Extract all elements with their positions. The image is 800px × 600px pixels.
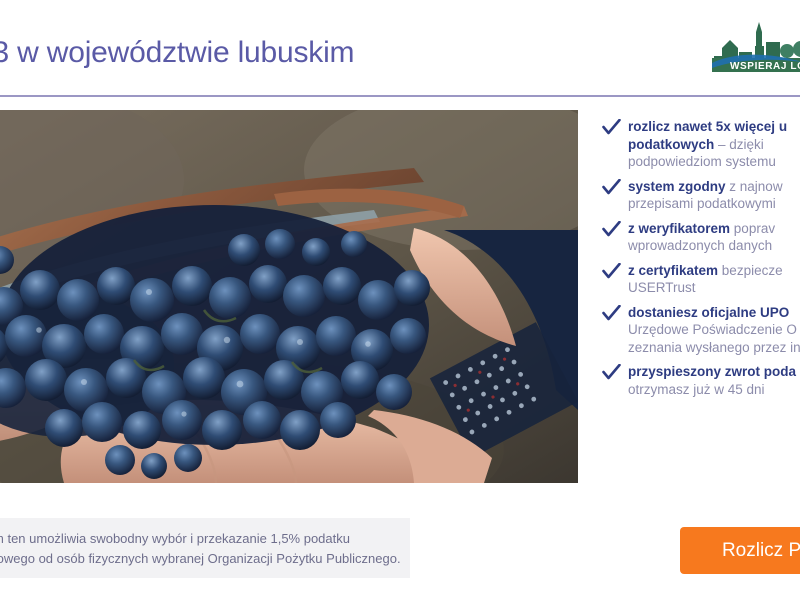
benefit-rest: Urzędowe Poświadczenie O [628,322,797,337]
check-icon [602,119,621,136]
benefit-bold: system zgodny [628,179,726,194]
benefit-rest: bezpiecze [718,263,783,278]
benefit-rest: USERTrust [628,280,696,295]
check-icon [602,364,621,381]
benefit-line: rozlicz nawet 5x więcej u [628,118,800,136]
check-icon [602,221,621,238]
check-icon [602,263,621,280]
benefit-item: rozlicz nawet 5x więcej u podatkowych – … [602,118,800,171]
benefit-rest: zeznania wysłanego przez in [628,340,800,355]
benefit-rest: przepisami podatkowymi [628,196,776,211]
info-box: Program ten umożliwia swobodny wybór i p… [0,518,410,578]
benefit-rest: podpowiedziom systemu [628,154,776,169]
benefit-bold: podatkowych [628,137,714,152]
benefit-line: dostaniesz oficjalne UPO [628,304,800,322]
benefit-line: podatkowych – dzięki [628,136,800,154]
benefit-line: z certyfikatem bezpiecze [628,262,800,280]
benefit-rest: wprowadzonych danych [628,238,772,253]
benefit-line: z weryfikatorem poprav [628,220,800,238]
info-box-line-2: dochodowego od osób fizycznych wybranej … [0,549,396,569]
benefits-list: rozlicz nawet 5x więcej u podatkowych – … [602,118,800,405]
benefit-rest: poprav [730,221,775,236]
benefit-item: z weryfikatorem poprav wprowadzonych dan… [602,220,800,255]
benefit-bold: z certyfikatem [628,263,718,278]
check-icon [602,305,621,322]
benefit-line: USERTrust [628,279,800,297]
benefit-line: przyspieszony zwrot poda [628,363,800,381]
info-box-line-1: Program ten umożliwia swobodny wybór i p… [0,529,396,549]
benefit-line: Urzędowe Poświadczenie O [628,321,800,339]
landing-page: Rozlicz PIT 2023 w województwie lubuskim [0,0,800,600]
logo-text: WSPIERAJ LOKALNIE [730,61,800,72]
benefit-rest: – dzięki [714,137,764,152]
benefit-item: przyspieszony zwrot poda otrzymasz już w… [602,363,800,398]
grapes-in-hands-photo [0,110,578,483]
benefit-rest: otrzymasz już w 45 dni [628,382,765,397]
benefit-line: przepisami podatkowymi [628,195,800,213]
benefit-item: dostaniesz oficjalne UPO Urzędowe Poświa… [602,304,800,357]
rozlicz-pit-button[interactable]: Rozlicz PIT [680,527,800,574]
page-title: Rozlicz PIT 2023 w województwie lubuskim [0,36,354,70]
benefit-rest: z najnow [726,179,783,194]
benefit-item: z certyfikatem bezpiecze USERTrust [602,262,800,297]
benefit-item: system zgodny z najnow przepisami podatk… [602,178,800,213]
benefit-bold: przyspieszony zwrot poda [628,364,796,379]
page-header: Rozlicz PIT 2023 w województwie lubuskim [0,0,800,97]
benefit-bold: z weryfikatorem [628,221,730,236]
benefit-line: wprowadzonych danych [628,237,800,255]
benefit-line: zeznania wysłanego przez in [628,339,800,357]
benefit-line: podpowiedziom systemu [628,153,800,171]
benefit-line: system zgodny z najnow [628,178,800,196]
wspieraj-lokalnie-logo[interactable]: WSPIERAJ LOKALNIE [712,18,800,80]
benefit-bold: dostaniesz oficjalne UPO [628,305,789,320]
benefit-bold: rozlicz nawet 5x więcej u [628,119,787,134]
check-icon [602,179,621,196]
benefit-line: otrzymasz już w 45 dni [628,381,800,399]
